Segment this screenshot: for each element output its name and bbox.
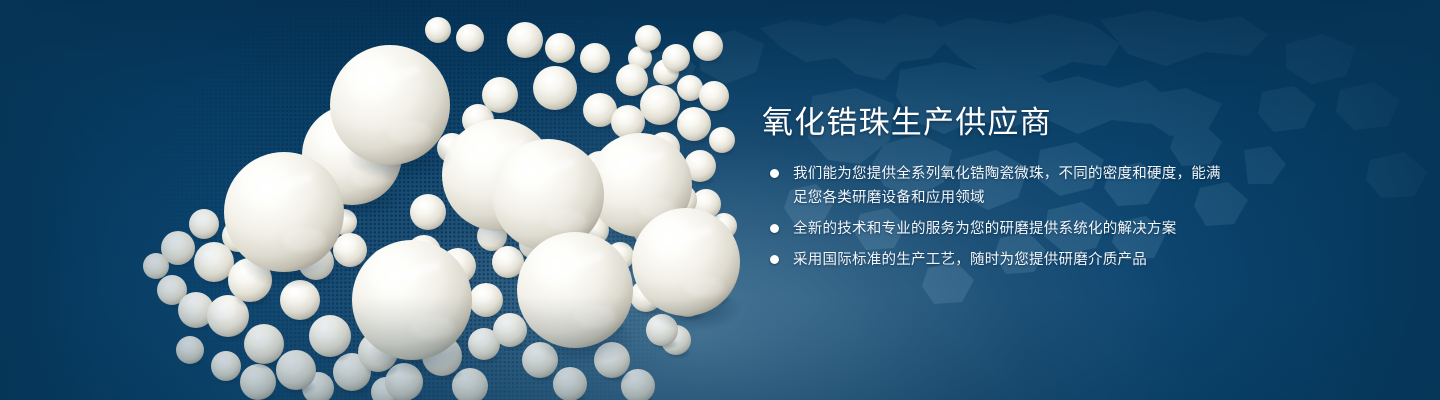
bullet-dot-icon [770, 255, 779, 264]
list-item: 全新的技术和专业的服务为您的研磨提供系统化的解决方案 [762, 217, 1232, 241]
bullet-dot-icon [770, 224, 779, 233]
hero-banner: 氧化锆珠生产供应商 我们能为您提供全系列氧化锆陶瓷微珠，不同的密度和硬度，能满足… [0, 0, 1440, 400]
list-item-label: 采用国际标准的生产工艺，随时为您提供研磨介质产品 [793, 248, 1232, 272]
list-item: 我们能为您提供全系列氧化锆陶瓷微珠，不同的密度和硬度，能满足您各类研磨设备和应用… [762, 162, 1232, 210]
list-item-label: 我们能为您提供全系列氧化锆陶瓷微珠，不同的密度和硬度，能满足您各类研磨设备和应用… [793, 162, 1232, 210]
page-title: 氧化锆珠生产供应商 [762, 103, 1232, 143]
list-item-label: 全新的技术和专业的服务为您的研磨提供系统化的解决方案 [793, 217, 1232, 241]
bullet-dot-icon [770, 169, 779, 178]
feature-list: 我们能为您提供全系列氧化锆陶瓷微珠，不同的密度和硬度，能满足您各类研磨设备和应用… [762, 162, 1232, 272]
list-item: 采用国际标准的生产工艺，随时为您提供研磨介质产品 [762, 248, 1232, 272]
banner-copy: 氧化锆珠生产供应商 我们能为您提供全系列氧化锆陶瓷微珠，不同的密度和硬度，能满足… [762, 103, 1232, 279]
